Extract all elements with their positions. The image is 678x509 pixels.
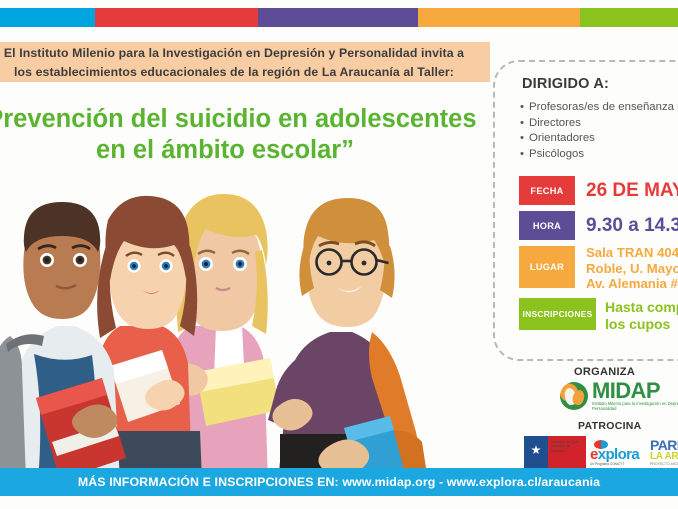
- page-title: “Prevención del suicidio en adolescentes…: [0, 104, 490, 166]
- student-boy-glasses: [268, 198, 428, 481]
- list-item: Directores: [529, 116, 678, 132]
- value-hora: 9.30 a 14.30: [586, 215, 678, 237]
- value-lugar-line-2: Roble, U. Mayor.: [586, 261, 678, 277]
- students-illustration: [0, 176, 500, 481]
- par-wordmark: PAREXPLORA: [650, 438, 678, 452]
- patrocina-label: PATROCINA: [578, 420, 642, 432]
- midap-name: MIDAP: [592, 381, 678, 401]
- footer-bar: MÁS INFORMACIÓN E INSCRIPCIONES EN: www.…: [0, 468, 678, 496]
- header-line-2: los establecimientos educacionales de la…: [0, 63, 490, 82]
- explora-logo: explora Un Programa CONICYT: [590, 438, 646, 468]
- color-segment-orange: [418, 8, 580, 27]
- gobierno-logo-text: Gobierno de Chile Ministerio de Educació…: [551, 440, 584, 453]
- value-lugar-line-1: Sala TRAN 404 Ed.: [586, 245, 678, 261]
- badge-fecha: FECHA: [519, 176, 575, 205]
- value-inscripciones-line-2: los cupos: [605, 316, 678, 333]
- badge-inscripciones: INSCRIPCIONES: [519, 298, 596, 330]
- color-segment-green: [580, 8, 678, 27]
- par-explora-logo: PAREXPLORA LA ARAUCANÍA PROYECTO ASOCIAT…: [650, 438, 678, 468]
- par-subtitle: PROYECTO ASOCIATIVO REGIONAL: [650, 462, 678, 466]
- poster-canvas: El Instituto Milenio para la Investigaci…: [0, 0, 678, 509]
- audience-list: Profesoras/es de enseñanza media Directo…: [515, 100, 678, 162]
- panel-heading: DIRIGIDO A:: [522, 76, 609, 92]
- footer-info-text: MÁS INFORMACIÓN E INSCRIPCIONES EN: www.…: [78, 475, 600, 489]
- header-line-1: El Instituto Milenio para la Investigaci…: [4, 46, 464, 60]
- chile-star-icon: [524, 436, 548, 468]
- midap-mark-icon: [560, 382, 588, 410]
- organiza-label: ORGANIZA: [574, 366, 635, 378]
- midap-tagline: Instituto Milenio para la Investigación …: [592, 401, 678, 411]
- explora-wordmark: explora: [590, 447, 639, 462]
- value-inscripciones-line-1: Hasta completar: [605, 299, 678, 316]
- value-inscripciones: Hasta completar los cupos: [605, 299, 678, 333]
- value-lugar-line-3: Av. Alemania #281: [586, 276, 678, 292]
- color-segment-purple: [258, 8, 418, 27]
- info-row-fecha: FECHA 26 DE MAYO: [519, 176, 678, 205]
- explora-subtitle: Un Programa CONICYT: [590, 462, 624, 466]
- midap-logo: MIDAP Instituto Milenio para la Investig…: [560, 381, 678, 411]
- par-region: LA ARAUCANÍA: [650, 452, 678, 462]
- sponsor-logos: Gobierno de Chile Ministerio de Educació…: [524, 436, 678, 468]
- info-row-lugar: LUGAR Sala TRAN 404 Ed. Roble, U. Mayor.…: [519, 246, 678, 292]
- title-line-2: en el ámbito escolar”: [0, 135, 490, 166]
- list-item: Profesoras/es de enseñanza media: [529, 100, 678, 116]
- badge-lugar: LUGAR: [519, 246, 575, 288]
- info-row-inscripciones: INSCRIPCIONES Hasta completar los cupos: [519, 298, 678, 333]
- badge-hora: HORA: [519, 211, 575, 240]
- header-invitation-text: El Instituto Milenio para la Investigaci…: [0, 44, 490, 82]
- info-row-hora: HORA 9.30 a 14.30: [519, 211, 678, 240]
- midap-wordmark: MIDAP Instituto Milenio para la Investig…: [592, 381, 678, 411]
- title-line-1: “Prevención del suicidio en adolescentes: [0, 105, 477, 133]
- list-item: Psicólogos: [529, 147, 678, 163]
- explora-xplora: xplora: [598, 446, 639, 463]
- color-segment-blue: [0, 8, 95, 27]
- gobierno-de-chile-logo: Gobierno de Chile Ministerio de Educació…: [524, 436, 586, 468]
- value-lugar: Sala TRAN 404 Ed. Roble, U. Mayor. Av. A…: [586, 245, 678, 292]
- list-item: Orientadores: [529, 131, 678, 147]
- top-color-bar: [0, 8, 678, 27]
- explora-e: e: [590, 446, 598, 463]
- color-segment-red: [95, 8, 258, 27]
- value-fecha: 26 DE MAYO: [586, 180, 678, 202]
